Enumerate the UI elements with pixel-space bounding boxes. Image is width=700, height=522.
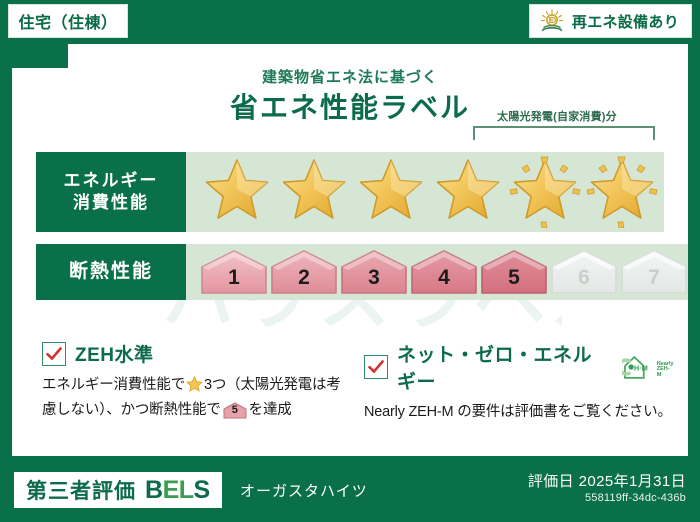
star-rating: [186, 156, 659, 228]
net-zero-energy-panel: ネット・ゼロ・エネルギー H·M Nearly ZEH-M: [364, 340, 674, 423]
renewable-energy-badge[interactable]: 再エネ設備あり: [529, 4, 692, 38]
tab-building-type[interactable]: 住宅（住棟）: [8, 4, 128, 38]
insulation-performance-value: 1234567: [186, 244, 688, 300]
bels-third-party-label: 第三者評価: [26, 475, 136, 505]
label-footer: 第三者評価 BELS オーガスタハイツ 評価日 2025年1月31日 55811…: [0, 462, 700, 522]
insulation-level-badge: 7: [620, 249, 688, 295]
insulation-level-number: 4: [410, 266, 478, 290]
insulation-performance-label: 断熱性能: [36, 244, 186, 300]
zeh-standard-body-part1: エネルギー消費性能で: [42, 377, 185, 393]
building-name: オーガスタハイツ: [240, 480, 368, 501]
insulation-level-badge: 2: [270, 249, 338, 295]
record-id: 558119ff-34dc-436b: [585, 492, 686, 504]
energy-performance-label-line2: 消費性能: [73, 192, 149, 214]
insulation-level-number: 5: [480, 266, 548, 290]
bels-logo-el: EL: [163, 476, 194, 504]
label-card: ハウスラベル 建築物省エネ法に基づく 省エネ性能ラベル エネルギー 消費性能 太…: [12, 44, 688, 456]
net-zero-energy-body: Nearly ZEH-M の要件は評価書をご覧ください。: [364, 401, 674, 423]
tab-building-type-label: 住宅（住棟）: [18, 9, 117, 33]
solar-bracket: [473, 126, 655, 140]
solar-note-label: 太陽光発電(自家消費)分: [457, 108, 657, 124]
zeh-standard-body: エネルギー消費性能で 3つ（太陽光発電は考慮しない）、かつ断熱性能で 5 を達成: [42, 374, 342, 421]
label-subtitle: 建築物省エネ法に基づく: [12, 66, 688, 87]
evaluation-date: 評価日 2025年1月31日: [528, 470, 686, 491]
net-zero-energy-title: ネット・ゼロ・エネルギー: [397, 340, 607, 394]
zeh-standard-body-part3: を達成: [249, 402, 292, 418]
insulation-level-badge: 1: [200, 249, 268, 295]
inline-house-badge-value: 5: [223, 402, 247, 419]
insulation-level-scale: 1234567: [186, 249, 688, 295]
net-zero-energy-heading: ネット・ゼロ・エネルギー H·M Nearly ZEH-M: [364, 340, 674, 394]
zeh-standard-panel: ZEH水準 エネルギー消費性能で 3つ（太陽光発電は考慮しない）、かつ断熱性能で…: [42, 340, 342, 421]
insulation-level-number: 7: [620, 266, 688, 290]
checkmark-icon: [364, 355, 388, 379]
checkmark-icon: [42, 342, 66, 366]
insulation-level-number: 2: [270, 266, 338, 290]
zeh-standard-heading: ZEH水準: [42, 340, 342, 367]
star-icon-solar: [585, 156, 659, 228]
insulation-level-number: 6: [550, 266, 618, 290]
bels-certification-mark: 第三者評価 BELS: [14, 472, 222, 508]
insulation-performance-row: 断熱性能 1234567: [36, 244, 664, 300]
zeh-m-logo: H·M Nearly ZEH-M: [622, 353, 674, 381]
insulation-level-number: 3: [340, 266, 408, 290]
star-icon-solar: [508, 156, 582, 228]
zeh-m-logo-sub2: ZEH-M: [657, 367, 674, 379]
star-icon: [354, 156, 428, 228]
energy-performance-label-line1: エネルギー: [64, 170, 159, 192]
energy-performance-row: エネルギー 消費性能 太陽光発電(自家消費)分: [36, 152, 664, 232]
renewable-energy-badge-label: 再エネ設備あり: [572, 11, 679, 32]
insulation-level-badge: 6: [550, 249, 618, 295]
insulation-level-number: 1: [200, 266, 268, 290]
star-icon: [431, 156, 505, 228]
inline-house-badge: 5: [223, 402, 247, 419]
star-icon: [200, 156, 274, 228]
bels-logo-s: S: [194, 476, 210, 504]
energy-performance-label: エネルギー 消費性能: [36, 152, 186, 232]
sun-icon: [539, 9, 565, 33]
bels-logo-b: B: [145, 476, 163, 504]
svg-text:H·M: H·M: [634, 363, 648, 372]
energy-performance-value: 太陽光発電(自家消費)分: [186, 152, 664, 232]
star-icon: [186, 376, 203, 399]
bels-energy-label: 住宅（住棟） 再エネ設備あり: [0, 0, 700, 522]
insulation-level-badge: 4: [410, 249, 478, 295]
star-icon: [277, 156, 351, 228]
insulation-level-badge: 3: [340, 249, 408, 295]
zeh-standard-title: ZEH水準: [75, 340, 154, 367]
insulation-performance-label-text: 断熱性能: [69, 259, 153, 284]
insulation-level-badge: 5: [480, 249, 548, 295]
bels-logo: BELS: [145, 476, 210, 505]
